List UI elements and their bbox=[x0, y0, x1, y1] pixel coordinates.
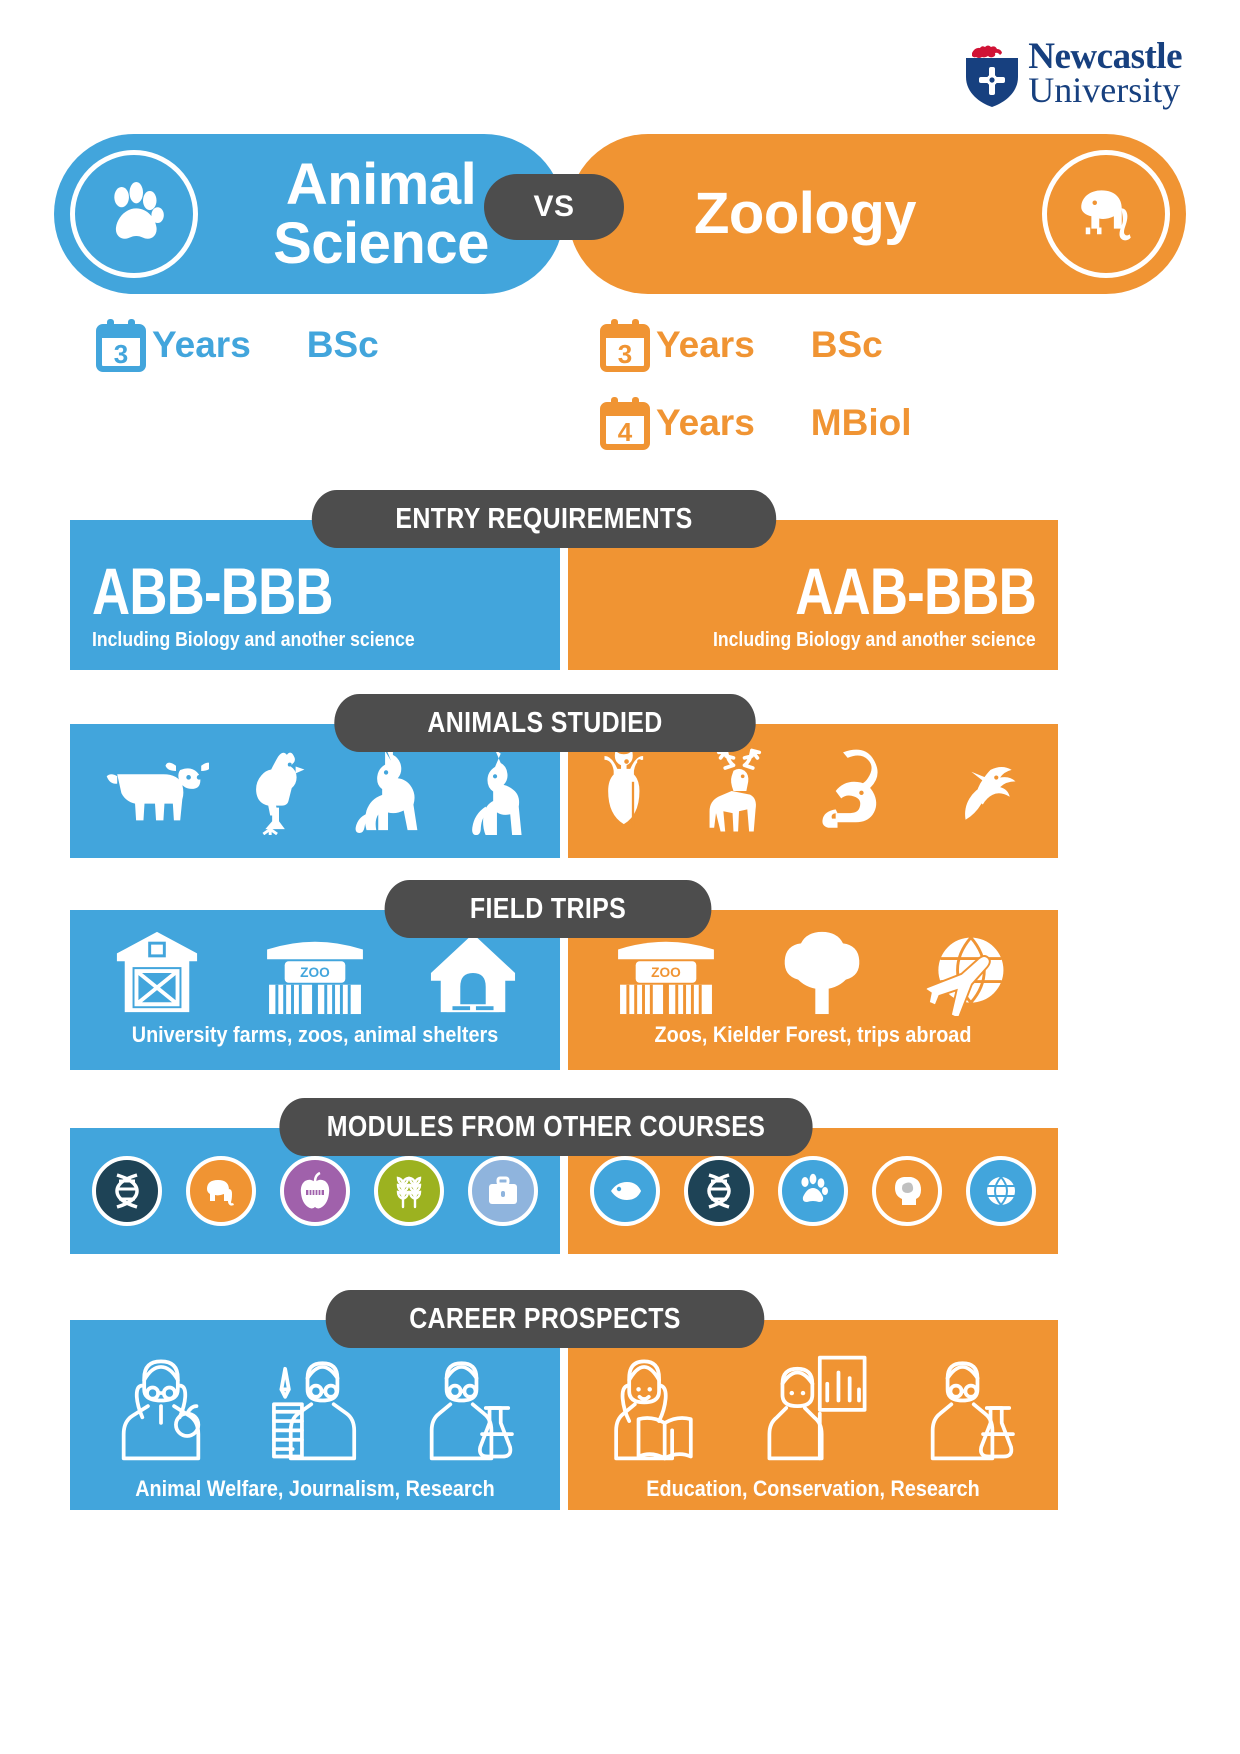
vet-woman-icon bbox=[106, 1352, 216, 1464]
paw-print-icon bbox=[793, 1171, 833, 1211]
entry-grade-right: AAB-BBB bbox=[795, 553, 1036, 629]
duration-row: 4 Years MBiol bbox=[600, 384, 911, 462]
duration-unit: Years bbox=[656, 324, 755, 366]
duration-award: MBiol bbox=[811, 402, 912, 444]
module-circle-dna[interactable] bbox=[92, 1156, 162, 1226]
calendar-icon: 3 bbox=[96, 318, 146, 372]
paw-print-icon-circle bbox=[70, 150, 198, 278]
module-circle-globe[interactable] bbox=[966, 1156, 1036, 1226]
durations-block: 3 Years BSc 3 Years BSc bbox=[0, 306, 1240, 466]
elephant-icon bbox=[1070, 178, 1142, 250]
hummingbird-icon bbox=[931, 752, 1027, 830]
animal-science-durations: 3 Years BSc bbox=[96, 306, 379, 384]
zoo-gate-label: ZOO bbox=[300, 965, 330, 980]
section-header-career-prospects: CAREER PROSPECTS bbox=[326, 1290, 765, 1348]
university-logo: Newcastle University bbox=[966, 40, 1182, 107]
infographic-page: Newcastle University Animal Science Zoo bbox=[0, 0, 1240, 1754]
section-header-animals-studied: ANIMALS STUDIED bbox=[334, 694, 755, 752]
dna-icon bbox=[699, 1171, 739, 1211]
module-circle-wheat[interactable] bbox=[374, 1156, 444, 1226]
fish-icon bbox=[605, 1171, 645, 1211]
apple-icon bbox=[295, 1171, 335, 1211]
entry-subtitle-left: Including Biology and another science bbox=[92, 629, 415, 652]
career-left-panel: Animal Welfare, Journalism, Research bbox=[70, 1320, 560, 1510]
module-circle-fish[interactable] bbox=[590, 1156, 660, 1226]
module-circle-dna[interactable] bbox=[684, 1156, 754, 1226]
elephant-icon-circle bbox=[1042, 150, 1170, 278]
svg-text:3: 3 bbox=[618, 339, 632, 369]
deer-icon bbox=[700, 745, 778, 837]
scientist-man-icon bbox=[414, 1352, 524, 1464]
career-icon-row-left bbox=[70, 1336, 560, 1464]
vs-badge: VS bbox=[484, 174, 624, 240]
entry-grade-left: ABB-BBB bbox=[92, 553, 333, 629]
field-trips-caption-left: University farms, zoos, animal shelters bbox=[95, 1022, 536, 1048]
barn-icon bbox=[113, 928, 201, 1016]
cat-icon bbox=[462, 746, 530, 836]
briefcase-icon bbox=[483, 1171, 523, 1211]
module-circle-apple[interactable] bbox=[280, 1156, 350, 1226]
section-entry-requirements: ENTRY REQUIREMENTS ABB-BBB Including Bio… bbox=[0, 490, 1240, 680]
zoo-gate-icon: ZOO bbox=[611, 928, 721, 1016]
calendar-icon: 3 bbox=[600, 318, 650, 372]
section-header-field-trips: FIELD TRIPS bbox=[385, 880, 712, 938]
kennel-icon bbox=[429, 928, 517, 1016]
section-career-prospects: CAREER PROSPECTS bbox=[0, 1290, 1240, 1530]
section-header-entry-requirements: ENTRY REQUIREMENTS bbox=[312, 490, 776, 548]
duration-unit: Years bbox=[152, 324, 251, 366]
career-caption-right: Education, Conservation, Research bbox=[593, 1476, 1034, 1502]
zoology-pill[interactable]: Zoology bbox=[568, 134, 1186, 294]
journalist-man-icon bbox=[260, 1352, 370, 1464]
dog-icon bbox=[349, 747, 429, 835]
entry-subtitle-right: Including Biology and another science bbox=[713, 629, 1036, 652]
duration-row: 3 Years BSc bbox=[96, 306, 379, 384]
tree-icon bbox=[779, 928, 865, 1016]
newcastle-shield-icon bbox=[966, 41, 1018, 107]
elephant-icon bbox=[201, 1171, 241, 1211]
duration-row: 3 Years BSc bbox=[600, 306, 911, 384]
career-icon-row-right bbox=[568, 1336, 1058, 1464]
section-animals-studied: ANIMALS STUDIED bbox=[0, 694, 1240, 874]
globe-plane-icon bbox=[923, 928, 1015, 1016]
module-circle-briefcase[interactable] bbox=[468, 1156, 538, 1226]
duration-award: BSc bbox=[811, 324, 883, 366]
cow-icon bbox=[101, 749, 209, 833]
animal-science-title-line2: Science bbox=[273, 211, 489, 276]
section-modules: MODULES FROM OTHER COURSES bbox=[0, 1098, 1240, 1278]
section-field-trips: FIELD TRIPS ZOO bbox=[0, 880, 1240, 1080]
presenter-man-icon bbox=[758, 1352, 876, 1464]
module-circle-paw[interactable] bbox=[778, 1156, 848, 1226]
beetle-icon bbox=[599, 745, 667, 837]
module-circle-elephant[interactable] bbox=[186, 1156, 256, 1226]
zoology-durations: 3 Years BSc 4 Years MBiol bbox=[600, 306, 911, 462]
wheat-icon bbox=[389, 1171, 429, 1211]
zoo-gate-icon: ZOO bbox=[260, 928, 370, 1016]
chicken-icon bbox=[242, 747, 316, 835]
animal-science-title-line1: Animal bbox=[286, 152, 476, 217]
globe-icon bbox=[981, 1171, 1021, 1211]
logo-line-2: University bbox=[1028, 74, 1182, 107]
career-caption-left: Animal Welfare, Journalism, Research bbox=[95, 1476, 536, 1502]
squirrel-icon bbox=[812, 745, 898, 837]
teacher-woman-icon bbox=[601, 1352, 719, 1464]
module-circle-head-brain[interactable] bbox=[872, 1156, 942, 1226]
svg-text:4: 4 bbox=[618, 417, 633, 447]
paw-print-icon bbox=[98, 178, 170, 250]
svg-text:ZOO: ZOO bbox=[651, 965, 681, 980]
calendar-number: 3 bbox=[114, 339, 128, 369]
duration-unit: Years bbox=[656, 402, 755, 444]
zoology-title: Zoology bbox=[568, 184, 1042, 243]
duration-award: BSc bbox=[307, 324, 379, 366]
course-header-row: Animal Science Zoology VS bbox=[0, 134, 1240, 294]
career-right-panel: Education, Conservation, Research bbox=[568, 1320, 1058, 1510]
dna-icon bbox=[107, 1171, 147, 1211]
calendar-icon: 4 bbox=[600, 396, 650, 450]
scientist-man-icon bbox=[915, 1352, 1025, 1464]
logo-line-1: Newcastle bbox=[1028, 40, 1182, 74]
section-header-modules: MODULES FROM OTHER COURSES bbox=[279, 1098, 812, 1156]
head-brain-icon bbox=[887, 1171, 927, 1211]
field-trips-caption-right: Zoos, Kielder Forest, trips abroad bbox=[593, 1022, 1034, 1048]
